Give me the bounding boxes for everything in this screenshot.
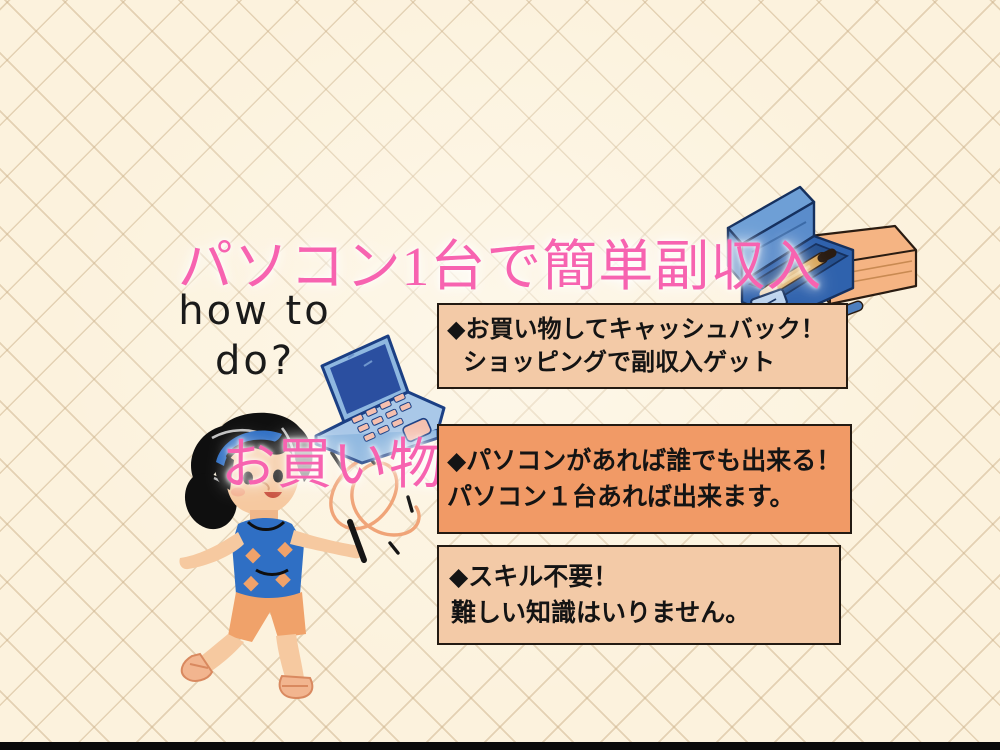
benefit-box-no-skill-line-2: 難しい知識はいりません。 (449, 595, 839, 631)
benefit-box-cashback-line-1: ◆お買い物してキャッシュバック！ (447, 313, 846, 346)
benefit-box-anyone-with-pc: ◆パソコンがあれば誰でも出来る！ パソコン１台あれば出来ます。 (437, 424, 852, 534)
howto-line-1: how to (160, 286, 350, 336)
benefit-box-anyone-with-pc-line-1: ◆パソコンがあれば誰でも出来る！ (447, 443, 850, 479)
bottom-bar (0, 742, 1000, 750)
title-line-1: パソコン1台で簡単副収入 (0, 234, 1000, 300)
benefit-box-cashback-line-2: ショッピングで副収入ゲット (447, 346, 846, 379)
howto-line-2: do? (160, 336, 350, 386)
poster-canvas: パソコン1台で簡単副収入 お買い物をして副収入 how to do? ◆お買い物… (0, 0, 1000, 750)
benefit-box-cashback: ◆お買い物してキャッシュバック！ ショッピングで副収入ゲット (437, 303, 848, 389)
benefit-box-no-skill: ◆スキル不要！ 難しい知識はいりません。 (437, 545, 841, 645)
benefit-box-anyone-with-pc-line-2: パソコン１台あれば出来ます。 (447, 479, 850, 515)
how-to-do-heading: how to do? (160, 286, 350, 386)
benefit-box-no-skill-line-1: ◆スキル不要！ (449, 559, 839, 595)
